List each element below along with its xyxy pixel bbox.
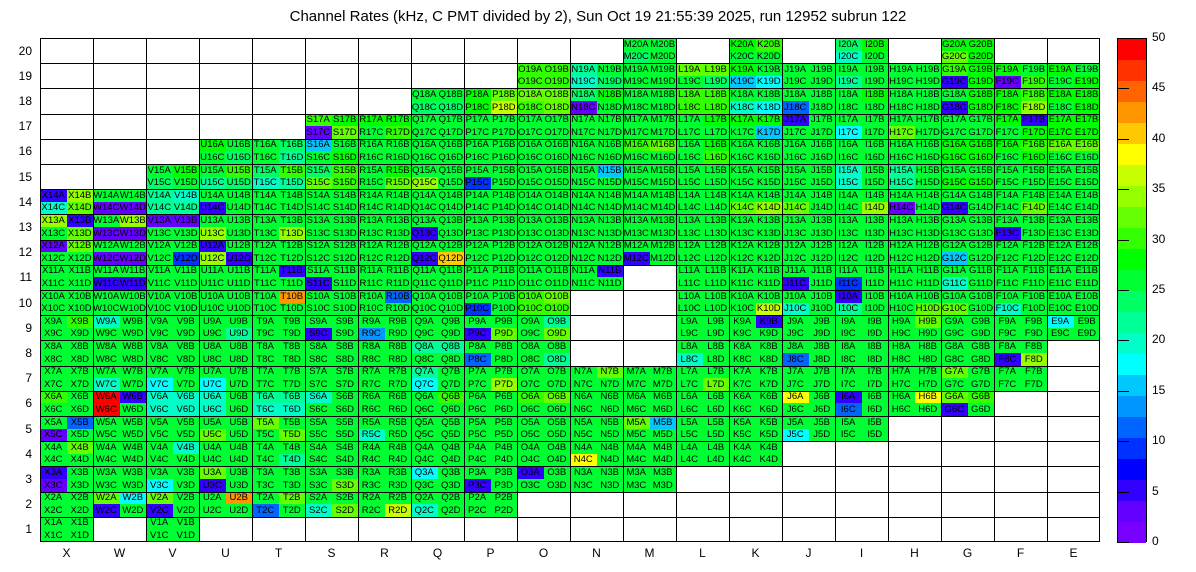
color-bar-tick-label: 0 — [1152, 534, 1159, 548]
color-bar-band — [1118, 291, 1146, 312]
x-axis-label: P — [464, 546, 517, 560]
color-bar-band — [1118, 375, 1146, 396]
y-axis-label: 13 — [0, 220, 32, 234]
color-bar-tick — [1117, 38, 1129, 39]
x-axis-label: R — [358, 546, 411, 560]
color-bar-band — [1118, 354, 1146, 375]
y-axis-label: 7 — [0, 371, 32, 385]
x-axis-label: U — [199, 546, 252, 560]
y-axis-label: 6 — [0, 396, 32, 410]
color-bar-tick — [1117, 492, 1129, 493]
color-bar-band — [1118, 165, 1146, 186]
x-axis-label: E — [1047, 546, 1100, 560]
color-bar-tick-label: 30 — [1152, 232, 1165, 246]
x-axis-label: S — [305, 546, 358, 560]
color-bar-band — [1118, 228, 1146, 249]
y-axis-label: 19 — [0, 69, 32, 83]
y-axis-label: 20 — [0, 44, 32, 58]
y-axis-label: 5 — [0, 422, 32, 436]
color-bar-tick-label: 35 — [1152, 181, 1165, 195]
color-bar-band — [1118, 417, 1146, 438]
x-axis-label: G — [941, 546, 994, 560]
color-bar-band — [1118, 144, 1146, 165]
y-axis-label: 10 — [0, 296, 32, 310]
y-axis-label: 4 — [0, 447, 32, 461]
x-axis-label: M — [623, 546, 676, 560]
color-bar-band — [1118, 333, 1146, 354]
x-axis-label: I — [835, 546, 888, 560]
color-bar-tick-label: 15 — [1152, 383, 1165, 397]
color-bar-tick — [1117, 391, 1129, 392]
x-axis-label: T — [252, 546, 305, 560]
color-bar-tick — [1117, 139, 1129, 140]
y-axis-label: 18 — [0, 94, 32, 108]
y-axis-label: 2 — [0, 497, 32, 511]
color-bar-band — [1118, 312, 1146, 333]
color-bar-tick — [1117, 88, 1129, 89]
color-bar-tick — [1117, 240, 1129, 241]
x-axis-label: K — [729, 546, 782, 560]
color-bar-tick-label: 45 — [1152, 80, 1165, 94]
color-bar-band — [1118, 459, 1146, 480]
x-axis-label: O — [517, 546, 570, 560]
x-axis-label: F — [994, 546, 1047, 560]
color-bar-tick — [1117, 340, 1129, 341]
color-bar-band — [1118, 81, 1146, 102]
color-bar-band — [1118, 207, 1146, 228]
color-bar-tick — [1117, 290, 1129, 291]
color-bar-tick-label: 50 — [1152, 30, 1165, 44]
color-bar-tick — [1117, 441, 1129, 442]
color-bar-band — [1118, 123, 1146, 144]
x-axis-label: L — [676, 546, 729, 560]
color-bar-band — [1118, 501, 1146, 522]
color-bar-tick — [1117, 542, 1129, 543]
y-axis-label: 11 — [0, 270, 32, 284]
x-axis-label: H — [888, 546, 941, 560]
x-axis-label: W — [93, 546, 146, 560]
x-axis-label: N — [570, 546, 623, 560]
y-axis-label: 1 — [0, 522, 32, 536]
y-axis-label: 12 — [0, 245, 32, 259]
color-bar-band — [1118, 396, 1146, 417]
x-axis-label: Q — [411, 546, 464, 560]
color-bar-tick-label: 25 — [1152, 282, 1165, 296]
color-bar-band — [1118, 39, 1146, 60]
y-axis-label: 9 — [0, 321, 32, 335]
y-axis-label: 17 — [0, 119, 32, 133]
y-axis-label: 3 — [0, 472, 32, 486]
page-title: Channel Rates (kHz, C PMT divided by 2),… — [0, 8, 1196, 25]
color-bar-tick — [1117, 189, 1129, 190]
color-bar-band — [1118, 522, 1146, 543]
x-axis-label: V — [146, 546, 199, 560]
y-axis-label: 8 — [0, 346, 32, 360]
heatmap-plot-area: M20AM20BM20CM20DK20AK20BK20CK20DI20AI20B… — [40, 38, 1100, 542]
x-axis-label: J — [782, 546, 835, 560]
color-bar-tick-label: 10 — [1152, 433, 1165, 447]
y-axis-label: 14 — [0, 195, 32, 209]
channel-rates-plot: Channel Rates (kHz, C PMT divided by 2),… — [0, 0, 1196, 572]
color-bar-band — [1118, 270, 1146, 291]
color-bar-tick-label: 5 — [1152, 484, 1159, 498]
color-bar-tick-label: 20 — [1152, 332, 1165, 346]
y-axis-label: 15 — [0, 170, 32, 184]
color-bar-band — [1118, 249, 1146, 270]
color-bar-band — [1118, 480, 1146, 501]
y-axis-label: 16 — [0, 144, 32, 158]
color-bar-band — [1118, 102, 1146, 123]
plot-frame — [40, 38, 1100, 542]
color-bar-band — [1118, 60, 1146, 81]
color-bar-tick-label: 40 — [1152, 131, 1165, 145]
x-axis-label: X — [40, 546, 93, 560]
